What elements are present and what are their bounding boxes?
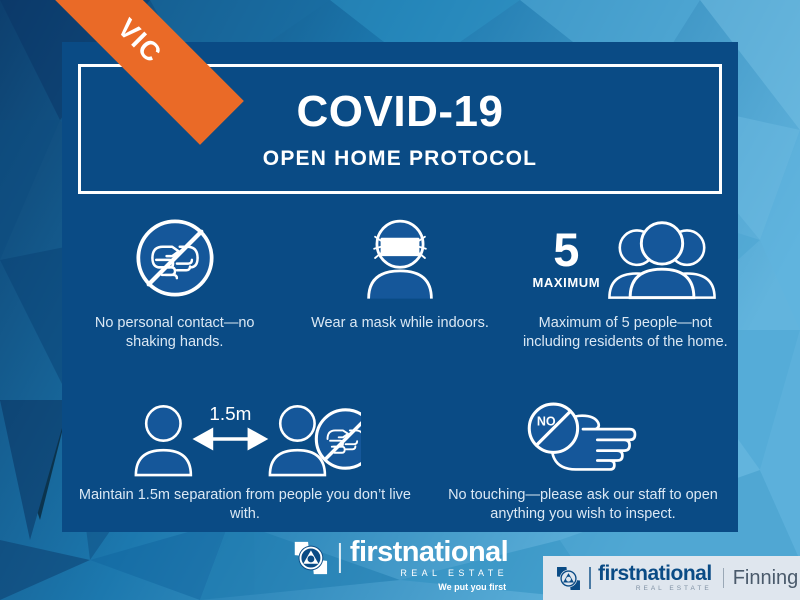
max-people-label: MAXIMUM xyxy=(532,276,600,289)
no-touching-icon: NO xyxy=(515,396,651,482)
protocol-caption: Maintain 1.5m separation from people you… xyxy=(62,486,428,524)
badge-text-wrap: firstnational REAL ESTATE xyxy=(598,563,712,593)
max-people-group: 5 MAXIMUM xyxy=(532,210,718,306)
covid-protocol-poster: VIC COVID-19 OPEN HOME PROTOCOL xyxy=(0,0,800,600)
protocol-item-max-people: 5 MAXIMUM Maximum of xyxy=(513,210,738,400)
no-handshake-icon xyxy=(128,211,222,305)
logo-text-wrap: firstnational REAL ESTATE xyxy=(350,538,508,578)
max-people-number: 5 xyxy=(553,227,579,272)
group-of-people-icon xyxy=(606,214,718,302)
protocol-item-wear-mask: Wear a mask while indoors. xyxy=(287,210,512,400)
logo-divider xyxy=(339,543,341,573)
icon-area xyxy=(128,210,222,306)
protocol-item-no-touching: NO No touching—please ask our staff to o… xyxy=(428,394,738,539)
office-logo-mark xyxy=(555,565,582,592)
office-name: Finning xyxy=(733,567,799,590)
logo-line: firstnational REAL ESTATE xyxy=(292,538,508,578)
protocol-caption: Maximum of 5 people—not including reside… xyxy=(513,314,738,352)
logo-tagline: We put you first xyxy=(438,582,508,592)
logo-brand-sub: REAL ESTATE xyxy=(350,569,508,578)
office-brand-sub: REAL ESTATE xyxy=(598,586,712,593)
max-number-wrap: 5 MAXIMUM xyxy=(532,227,600,289)
protocol-caption: Wear a mask while indoors. xyxy=(303,314,497,333)
office-badge: firstnational REAL ESTATE Finning xyxy=(543,556,800,600)
protocol-caption: No touching—please ask our staff to open… xyxy=(428,486,738,524)
content-panel: COVID-19 OPEN HOME PROTOCOL xyxy=(62,42,738,532)
protocol-item-social-distance: 1.5m xyxy=(62,394,428,539)
badge-divider xyxy=(589,567,591,589)
badge-divider-2 xyxy=(723,568,724,588)
icon-area: NO xyxy=(515,394,651,484)
social-distance-icon: 1.5m xyxy=(129,396,361,482)
protocol-item-no-contact: No personal contact—no shaking hands. xyxy=(62,210,287,400)
protocol-row-two: 1.5m xyxy=(62,394,738,539)
icon-area: 1.5m xyxy=(129,394,361,484)
face-mask-icon xyxy=(352,211,448,305)
distance-label: 1.5m xyxy=(209,404,251,425)
page-title: COVID-19 xyxy=(297,90,504,134)
first-national-logo: firstnational REAL ESTATE We put you fir… xyxy=(292,538,508,592)
page-subtitle: OPEN HOME PROTOCOL xyxy=(263,148,537,169)
icon-area xyxy=(352,210,448,306)
protocol-caption: No personal contact—no shaking hands. xyxy=(62,314,287,352)
protocol-row-one: No personal contact—no shaking hands. xyxy=(62,210,738,400)
first-national-logo-mark xyxy=(292,539,330,577)
office-brand-name: firstnational xyxy=(598,563,712,584)
logo-brand-name: firstnational xyxy=(350,538,508,567)
